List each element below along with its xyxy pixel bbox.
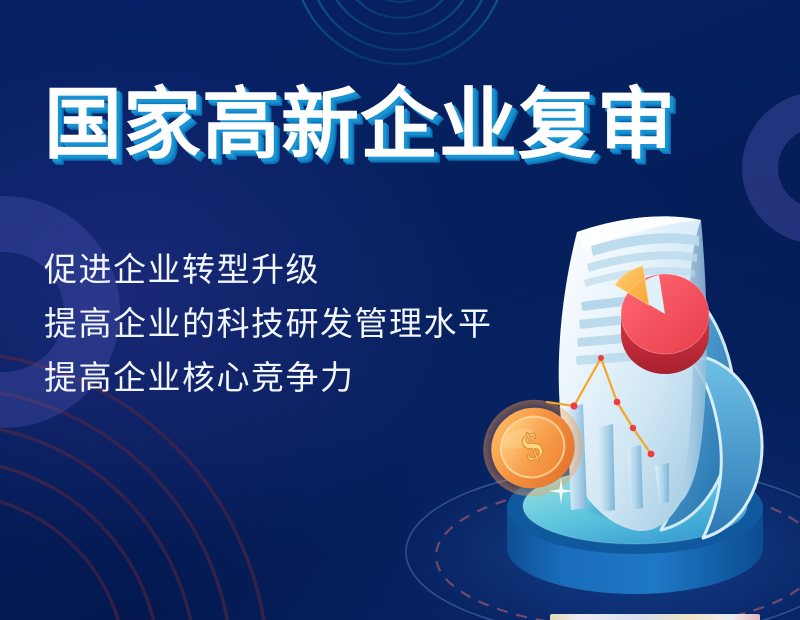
benefit-line-2: 提高企业的科技研发管理水平 xyxy=(44,297,514,351)
benefit-line-1: 促进企业转型升级 xyxy=(44,243,514,297)
poster-canvas: 国家高新企业复审 促进企业转型升级 提高企业的科技研发管理水平 提高企业核心竞争… xyxy=(0,0,800,620)
bottom-cropped-strip xyxy=(550,614,760,620)
sonar-arcs-top xyxy=(294,0,506,64)
report-sheet xyxy=(547,216,709,531)
benefit-list: 促进企业转型升级 提高企业的科技研发管理水平 提高企业核心竞争力 xyxy=(44,243,514,405)
report-illustration: $ xyxy=(455,190,800,620)
benefit-line-3: 提高企业核心竞争力 xyxy=(44,351,514,405)
page-title: 国家高新企业复审 xyxy=(44,78,676,170)
